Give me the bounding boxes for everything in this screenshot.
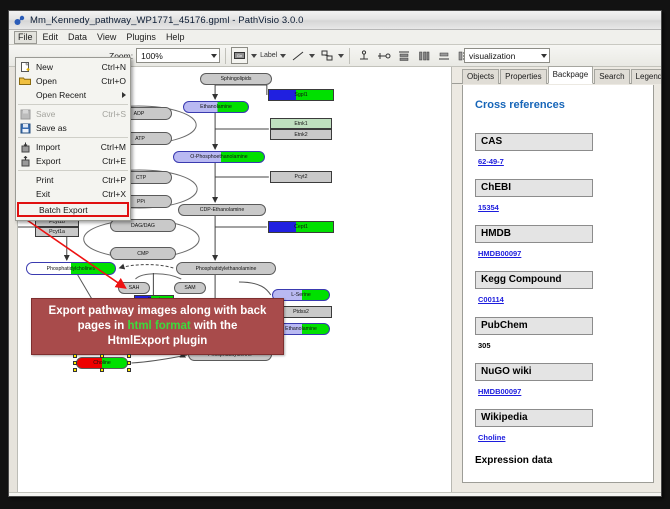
file-menu-separator [18, 104, 128, 105]
datanode-dropdown-icon[interactable] [251, 54, 257, 58]
open-folder-icon [19, 75, 31, 87]
selection-handle[interactable] [73, 361, 77, 365]
menu-item-no-icon [19, 174, 31, 186]
file-menu-item-save[interactable]: SaveCtrl+S [16, 107, 130, 121]
new-file-icon [19, 61, 31, 73]
toolbar-separator-2 [349, 48, 350, 64]
align-top-icon[interactable] [395, 47, 412, 64]
file-menu-item-new[interactable]: NewCtrl+N [16, 60, 130, 74]
menu-item-no-icon [22, 204, 34, 216]
file-menu-item-label: Open [36, 76, 101, 86]
xref-block: HMDBHMDB00097 [475, 225, 643, 261]
selection-handle[interactable] [73, 354, 77, 358]
side-panel: Objects Properties Backpage Search Legen… [452, 67, 661, 492]
selection-handle[interactable] [100, 354, 104, 358]
xref-link[interactable]: 62-49-7 [478, 157, 504, 166]
menu-view[interactable]: View [93, 31, 120, 44]
file-menu-item-label: Open Recent [36, 90, 122, 100]
zoom-combo[interactable]: 100% [136, 48, 220, 63]
backpage-heading: Cross references [475, 99, 643, 111]
xref-link[interactable]: C00114 [478, 295, 504, 304]
align-middle-icon[interactable] [415, 47, 432, 64]
xref-link[interactable]: Choline [478, 433, 506, 442]
file-menu-item-label: Print [36, 175, 102, 185]
xref-link[interactable]: 15354 [478, 203, 499, 212]
svg-text:Gn: Gn [237, 53, 242, 58]
export-icon [19, 155, 31, 167]
shape-icon[interactable] [318, 47, 335, 64]
label-button[interactable]: Label [260, 52, 277, 59]
menu-item-no-icon [19, 188, 31, 200]
menu-bar[interactable]: File Edit Data View Plugins Help [9, 30, 661, 45]
label-dropdown-icon[interactable] [280, 54, 286, 58]
selection-handle[interactable] [127, 361, 131, 365]
xref-link[interactable]: HMDB00097 [478, 387, 521, 396]
file-menu-item-open-recent[interactable]: Open Recent [16, 88, 130, 102]
xref-block: WikipediaCholine [475, 409, 643, 445]
file-menu-item-import[interactable]: ImportCtrl+M [16, 140, 130, 154]
xref-source-hmdb: HMDB [475, 225, 593, 243]
file-menu-item-accelerator: Ctrl+N [102, 62, 130, 72]
window-title: Mm_Kennedy_pathway_WP1771_45176.gpml - P… [30, 15, 304, 26]
menu-item-no-icon [19, 89, 31, 101]
chevron-down-icon-2 [541, 54, 547, 58]
stack-icon[interactable] [435, 47, 452, 64]
cross-reference-list: CAS62-49-7ChEBI15354HMDBHMDB00097Kegg Co… [475, 133, 643, 445]
anchor-icon[interactable] [355, 47, 372, 64]
datanode-icon[interactable]: Gn [231, 47, 248, 64]
toolbar-separator [225, 48, 226, 64]
visualization-value: visualization [469, 51, 515, 61]
selection-handle[interactable] [73, 368, 77, 372]
line-dropdown-icon[interactable] [309, 54, 315, 58]
xref-block: NuGO wikiHMDB00097 [475, 363, 643, 399]
visualization-combo[interactable]: visualization [464, 48, 550, 63]
file-menu-item-label: Save as [36, 123, 126, 133]
xref-block: CAS62-49-7 [475, 133, 643, 169]
file-menu-item-exit[interactable]: ExitCtrl+X [16, 187, 130, 201]
chevron-down-icon [211, 54, 217, 58]
side-panel-tabs[interactable]: Objects Properties Backpage Search Legen… [452, 67, 661, 84]
xref-link[interactable]: HMDB00097 [478, 249, 521, 258]
file-menu-item-accelerator: Ctrl+S [102, 109, 130, 119]
file-menu-item-accelerator: Ctrl+E [102, 156, 130, 166]
file-menu-item-accelerator: Ctrl+M [101, 142, 130, 152]
file-menu-item-print[interactable]: PrintCtrl+P [16, 173, 130, 187]
xref-source-pubchem: PubChem [475, 317, 593, 335]
title-bar: Mm_Kennedy_pathway_WP1771_45176.gpml - P… [9, 11, 661, 30]
menu-data[interactable]: Data [64, 31, 91, 44]
selection-handle[interactable] [127, 354, 131, 358]
backpage-panel[interactable]: Cross references CAS62-49-7ChEBI15354HMD… [462, 85, 654, 483]
xref-block: PubChem305 [475, 317, 643, 353]
xref-value: 305 [478, 341, 491, 350]
file-menu-item-accelerator: Ctrl+X [102, 189, 130, 199]
xref-source-chebi: ChEBI [475, 179, 593, 197]
xref-source-wikipedia: Wikipedia [475, 409, 593, 427]
file-menu-item-label: Batch Export [39, 205, 123, 215]
import-icon [19, 141, 31, 153]
menu-plugins[interactable]: Plugins [122, 31, 160, 44]
save-icon [19, 108, 31, 120]
save-as-icon [19, 122, 31, 134]
screenshot-root: Mm_Kennedy_pathway_WP1771_45176.gpml - P… [0, 0, 670, 509]
file-menu-item-accelerator: Ctrl+O [101, 76, 130, 86]
menu-edit[interactable]: Edit [39, 31, 63, 44]
xref-source-cas: CAS [475, 133, 593, 151]
tab-legend[interactable]: Legend [631, 69, 662, 84]
file-menu-separator [18, 170, 128, 171]
tab-search[interactable]: Search [594, 69, 629, 84]
file-menu-item-label: Import [36, 142, 101, 152]
pathvisio-icon [13, 14, 26, 27]
menu-file[interactable]: File [14, 31, 37, 44]
tab-objects[interactable]: Objects [462, 69, 499, 84]
selection-handle[interactable] [100, 368, 104, 372]
xref-block: ChEBI15354 [475, 179, 643, 215]
file-menu-item-save-as[interactable]: Save as [16, 121, 130, 135]
menu-help[interactable]: Help [162, 31, 189, 44]
file-menu-item-export[interactable]: ExportCtrl+E [16, 154, 130, 168]
file-menu-item-label: Export [36, 156, 102, 166]
xref-source-nugo-wiki: NuGO wiki [475, 363, 593, 381]
tab-properties[interactable]: Properties [500, 69, 546, 84]
submenu-arrow-icon [122, 92, 126, 98]
file-menu-item-accelerator: Ctrl+P [102, 175, 130, 185]
file-menu-item-open[interactable]: OpenCtrl+O [16, 74, 130, 88]
xref-block: Kegg CompoundC00114 [475, 271, 643, 307]
pathvisio-window: Mm_Kennedy_pathway_WP1771_45176.gpml - P… [8, 10, 662, 497]
expression-data-heading: Expression data [475, 455, 643, 466]
zoom-value: 100% [141, 51, 163, 61]
xref-source-kegg-compound: Kegg Compound [475, 271, 593, 289]
file-menu-item-label: Save [36, 109, 102, 119]
tab-backpage[interactable]: Backpage [548, 66, 594, 84]
shape-dropdown-icon[interactable] [338, 54, 344, 58]
file-menu-item-label: Exit [36, 189, 102, 199]
selection-handle[interactable] [127, 368, 131, 372]
status-bar: Gene database: ...m_Derby_20120602.bridg… [9, 492, 661, 497]
file-menu-popup[interactable]: NewCtrl+NOpenCtrl+OOpen RecentSaveCtrl+S… [15, 57, 131, 221]
line-icon[interactable] [289, 47, 306, 64]
file-menu-item-batch-export[interactable]: Batch Export [17, 202, 129, 217]
file-menu-separator [18, 137, 128, 138]
interaction-icon[interactable] [375, 47, 392, 64]
file-menu-item-label: New [36, 62, 102, 72]
